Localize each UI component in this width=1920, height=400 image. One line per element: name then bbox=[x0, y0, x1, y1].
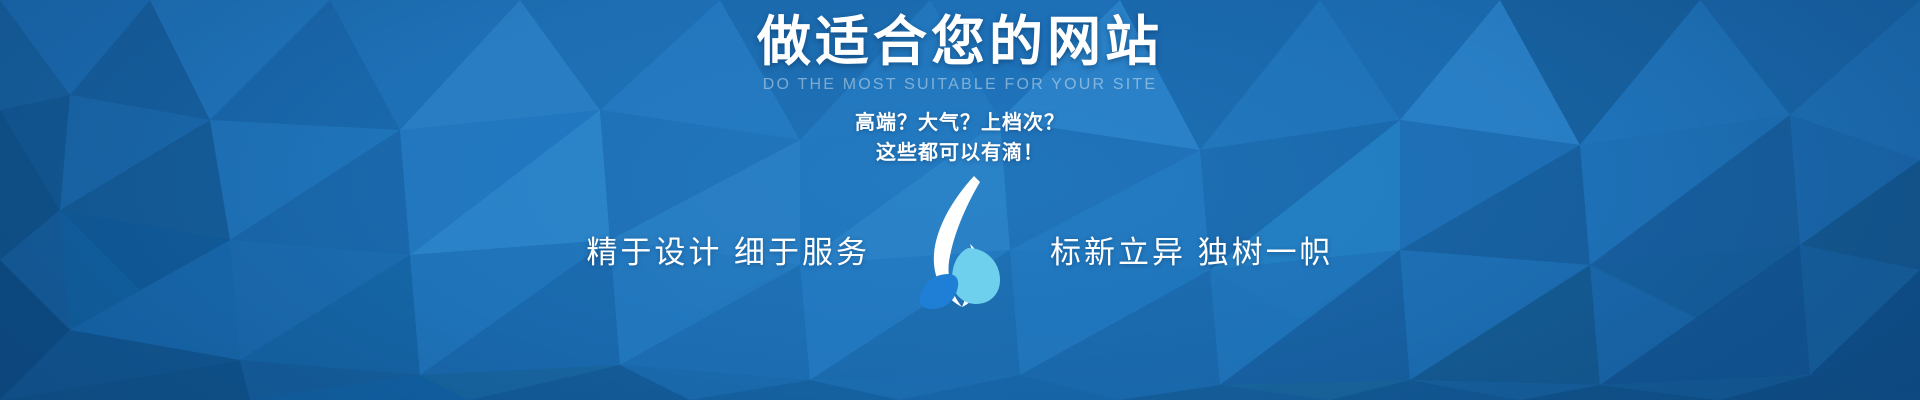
slogan-line-2: 这些都可以有滴！ bbox=[855, 139, 1065, 168]
brand-logo bbox=[900, 174, 1020, 309]
slogan-line-1: 高端？大气？上档次？ bbox=[855, 109, 1065, 138]
tagline-row: 精于设计 细于服务 标新立异 独树一帜 bbox=[0, 190, 1920, 309]
tagline-left: 精于设计 细于服务 bbox=[540, 227, 870, 272]
banner-subtitle-english: DO THE MOST SUITABLE FOR YOUR SITE bbox=[763, 76, 1158, 94]
banner-slogan: 高端？大气？上档次？ 这些都可以有滴！ bbox=[855, 109, 1065, 168]
tagline-right: 标新立异 独树一帜 bbox=[1050, 227, 1380, 272]
banner-content: 做适合您的网站 DO THE MOST SUITABLE FOR YOUR SI… bbox=[0, 0, 1920, 400]
banner-title: 做适合您的网站 bbox=[757, 14, 1163, 71]
droplet-leaf-logo-icon bbox=[900, 174, 1020, 309]
promo-banner: 做适合您的网站 DO THE MOST SUITABLE FOR YOUR SI… bbox=[0, 0, 1920, 400]
